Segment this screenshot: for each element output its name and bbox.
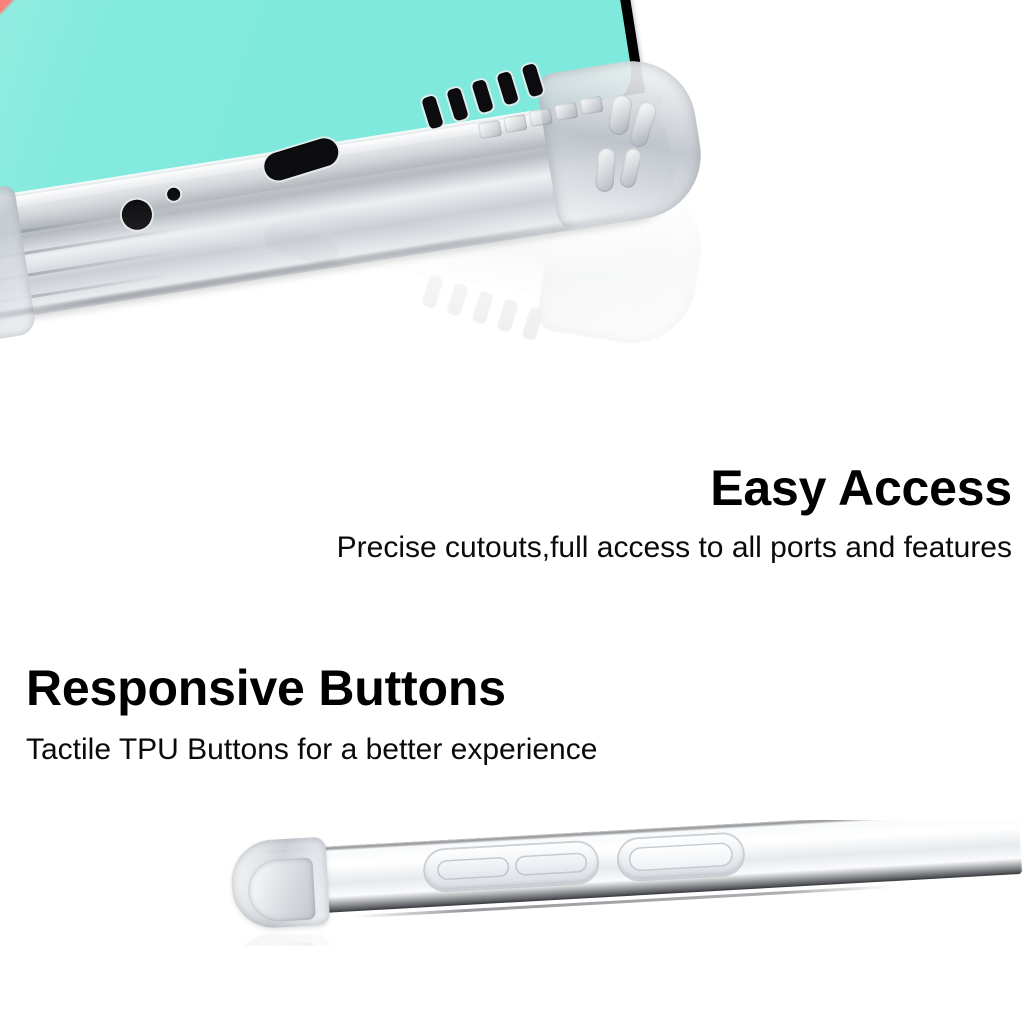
case-corner-cap <box>229 837 330 930</box>
case-lattice-cell <box>529 108 553 127</box>
case-lattice-cell <box>478 120 502 139</box>
photo-phone-bottom-edge <box>0 0 800 470</box>
power-button-bump <box>618 833 744 880</box>
case-airbag-corner-right <box>535 52 710 232</box>
feature-title-easy-access: Easy Access <box>337 462 1012 515</box>
feature-block-easy-access: Easy Access Precise cutouts,full access … <box>337 462 1012 564</box>
clear-case-side-view <box>229 820 1024 944</box>
product-feature-page: Easy Access Precise cutouts,full access … <box>0 0 1024 1024</box>
feature-subtitle-easy-access: Precise cutouts,full access to all ports… <box>337 531 1012 564</box>
feature-title-responsive-buttons: Responsive Buttons <box>26 662 597 715</box>
case-lattice-cell <box>579 96 603 115</box>
case-lattice-cell <box>554 102 578 121</box>
volume-down-segment <box>515 852 588 876</box>
volume-up-segment <box>437 857 510 881</box>
power-button-face <box>628 842 733 872</box>
feature-subtitle-responsive-buttons: Tactile TPU Buttons for a better experie… <box>26 733 597 766</box>
photo-case-side-profile <box>0 820 1024 1024</box>
case-lattice-cell <box>503 114 527 133</box>
case-corner-cap-inner <box>246 857 315 923</box>
feature-block-responsive-buttons: Responsive Buttons Tactile TPU Buttons f… <box>26 662 597 766</box>
phone-in-clear-case <box>0 0 800 388</box>
